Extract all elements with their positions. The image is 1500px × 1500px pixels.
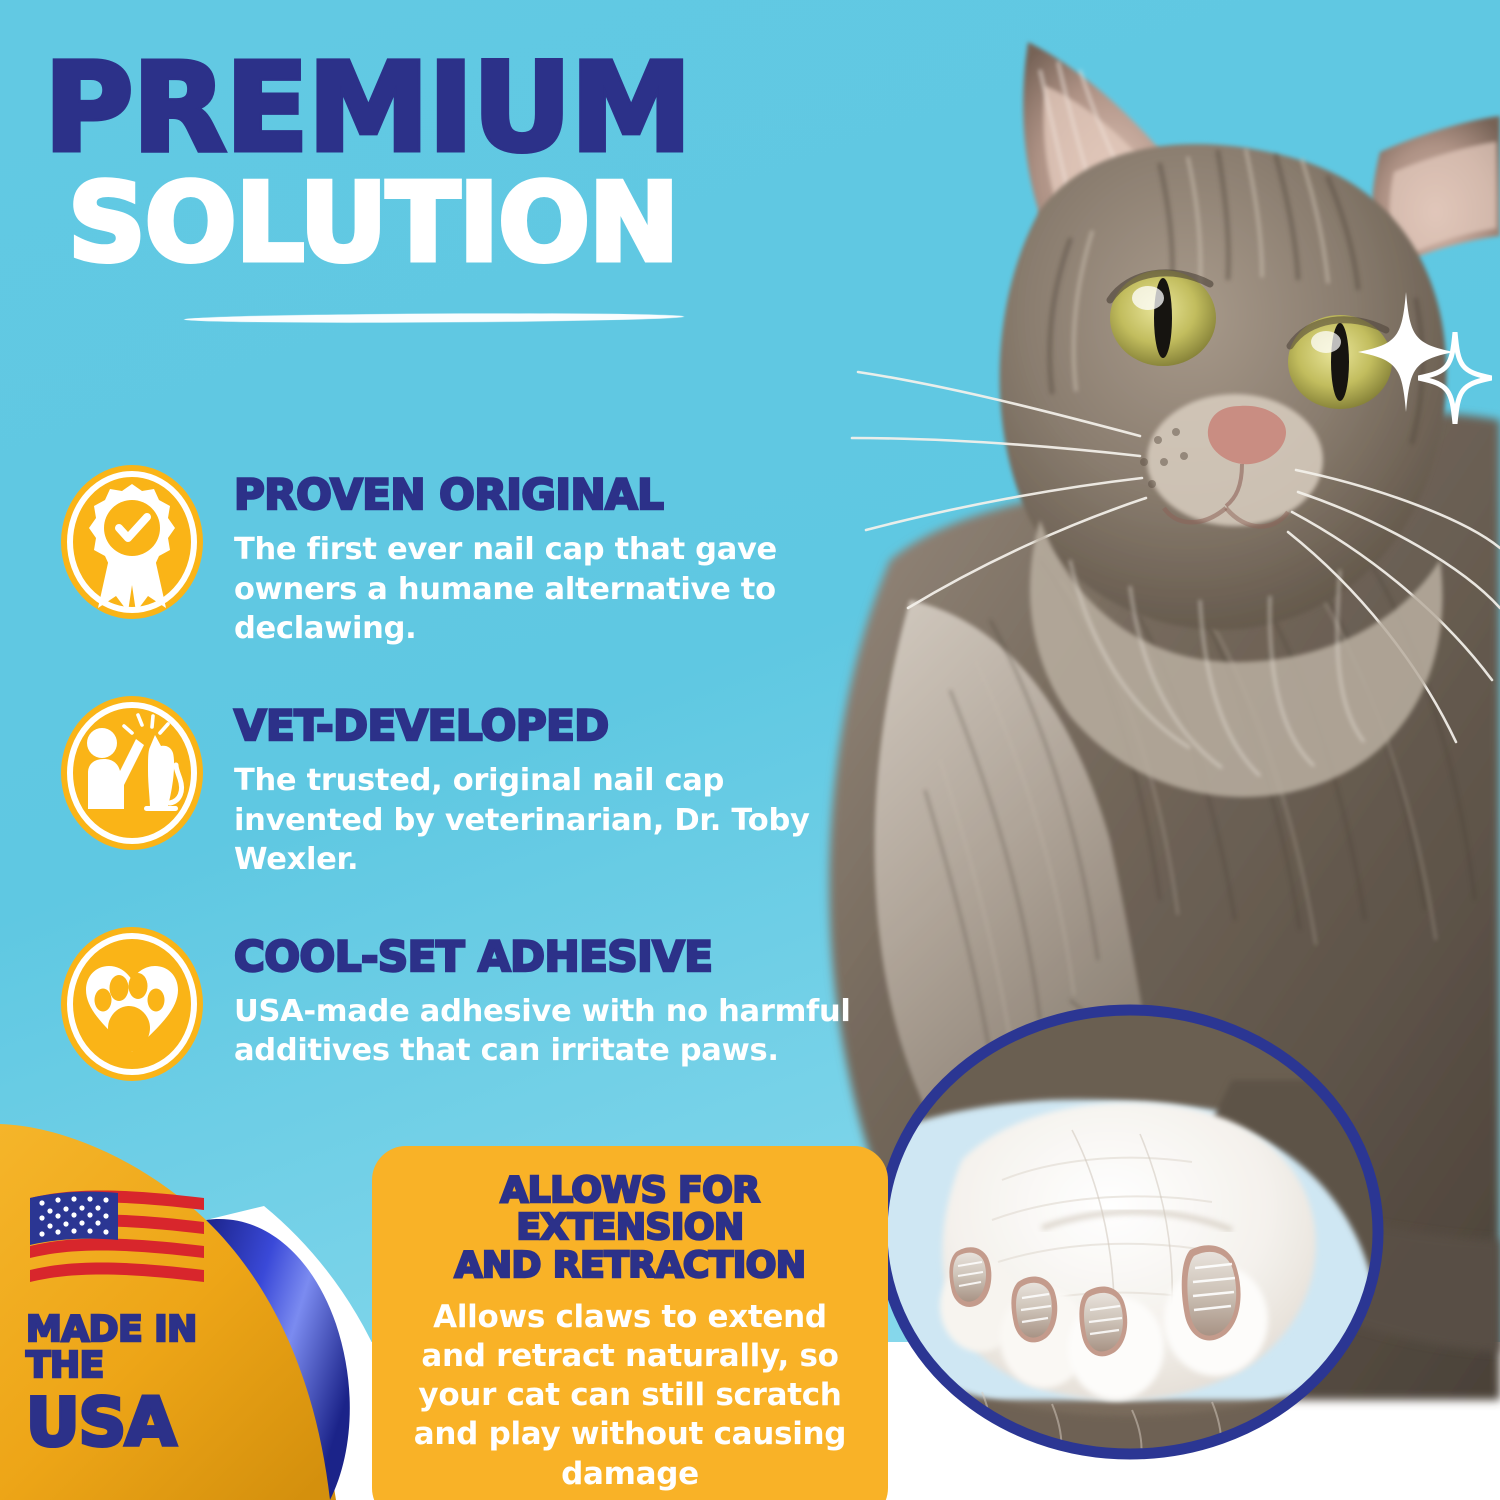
headline-block: PREMIUM SOLUTION — [44, 52, 844, 326]
sparkle-outline-icon — [1418, 332, 1492, 424]
made-in-usa-badge: MADE IN THE USA — [26, 1184, 256, 1456]
heart-paw-icon — [58, 924, 206, 1084]
callout-description: Allows claws to extend and retract natur… — [398, 1298, 862, 1493]
feature-description: The first ever nail cap that gave owners… — [234, 530, 858, 649]
feature-item: COOL-SET ADHESIVE USA-made adhesive with… — [58, 924, 858, 1084]
feature-item: VET-DEVELOPED The trusted, original nail… — [58, 693, 858, 880]
award-ribbon-icon — [58, 462, 206, 622]
feature-description: USA-made adhesive with no harmful additi… — [234, 992, 858, 1071]
feature-item: PROVEN ORIGINAL The first ever nail cap … — [58, 462, 858, 649]
feature-text: PROVEN ORIGINAL The first ever nail cap … — [234, 462, 858, 649]
callout-title: ALLOWS FOR EXTENSION AND RETRACTION — [398, 1172, 862, 1284]
feature-description: The trusted, original nail cap invented … — [234, 761, 858, 880]
headline-primary: PREMIUM — [44, 52, 844, 164]
feature-title: VET-DEVELOPED — [234, 705, 858, 747]
feature-list: PROVEN ORIGINAL The first ever nail cap … — [58, 462, 858, 1128]
feature-text: COOL-SET ADHESIVE USA-made adhesive with… — [234, 924, 858, 1071]
usa-badge-line2: USA — [26, 1390, 256, 1456]
extension-retraction-callout: ALLOWS FOR EXTENSION AND RETRACTION Allo… — [372, 1146, 888, 1500]
product-infographic-poster: PREMIUM SOLUTION PROVEN — [0, 0, 1500, 1500]
vet-high-five-cat-icon — [58, 693, 206, 853]
callout-title-line1: ALLOWS FOR EXTENSION — [398, 1172, 862, 1247]
callout-title-line2: AND RETRACTION — [398, 1247, 862, 1284]
feature-text: VET-DEVELOPED The trusted, original nail… — [234, 693, 858, 880]
feature-title: COOL-SET ADHESIVE — [234, 936, 858, 978]
usa-badge-line1: MADE IN THE — [26, 1312, 256, 1384]
usa-flag-icon — [26, 1184, 208, 1294]
headline-swoosh-divider — [184, 312, 684, 324]
headline-secondary: SOLUTION — [68, 172, 844, 276]
feature-title: PROVEN ORIGINAL — [234, 474, 858, 516]
cat-paw-with-nail-caps-photo — [872, 1000, 1392, 1470]
